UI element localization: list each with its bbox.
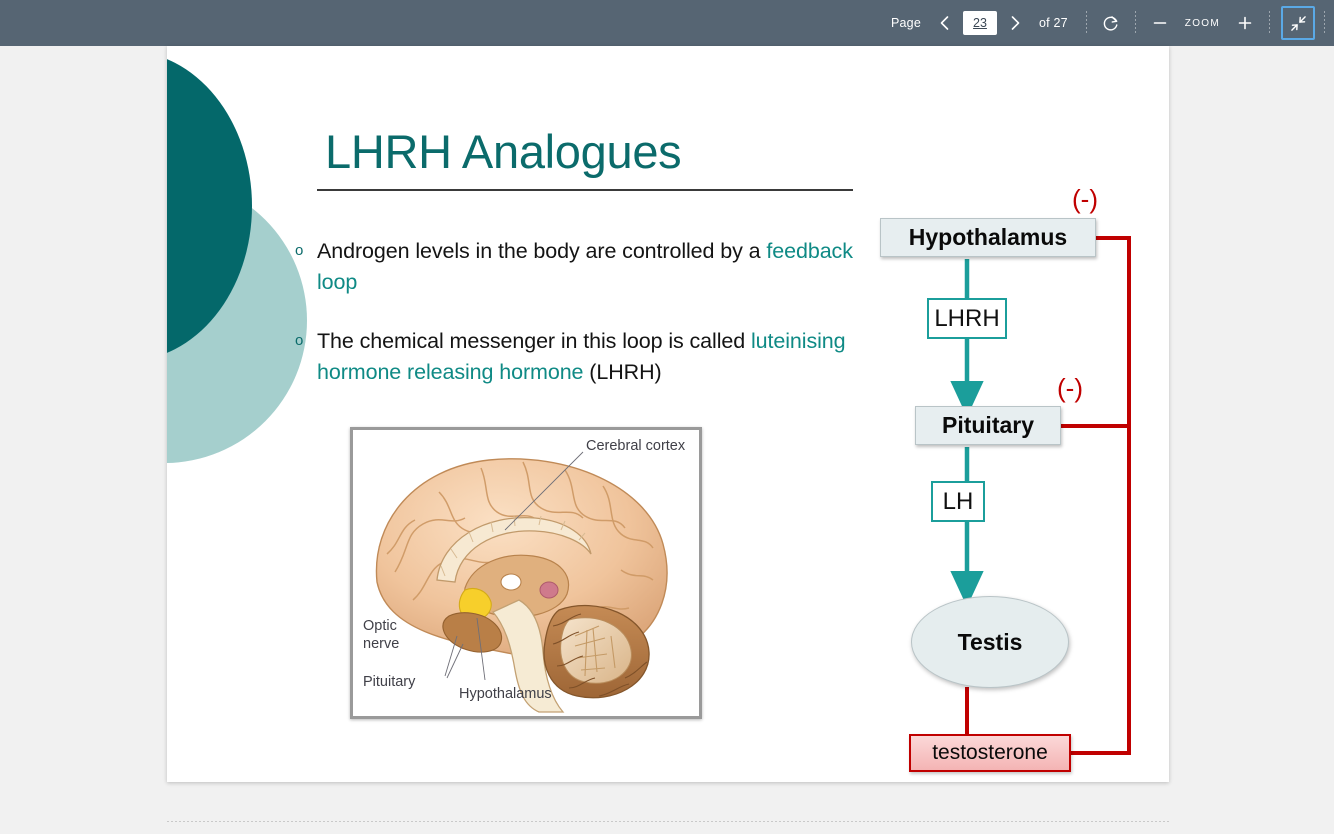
next-page-button[interactable] [1000,8,1030,38]
page-label: Page [882,16,930,30]
bullet-tail-text: (LHRH) [583,360,661,384]
viewer-toolbar: Page 23 of 27 ZOOM [0,0,1334,46]
zoom-label: ZOOM [1175,18,1230,29]
feedback-minus-hypothalamus: (-) [1072,184,1098,215]
bullet-list: o Androgen levels in the body are contro… [291,236,871,416]
zoom-in-button[interactable] [1230,8,1260,38]
label-pituitary: Pituitary [363,674,416,690]
exit-fullscreen-icon [1290,15,1307,32]
label-cerebral-cortex: Cerebral cortex [586,438,686,454]
bullet-plain-text: The chemical messenger in this loop is c… [317,329,751,353]
bullet-marker: o [291,236,317,298]
node-testosterone: testosterone [909,734,1071,772]
chevron-right-icon [1008,15,1022,31]
rotate-button[interactable] [1096,8,1126,38]
feedback-minus-pituitary: (-) [1057,373,1083,404]
toolbar-divider-3 [1269,11,1270,35]
node-testis: Testis [911,596,1069,688]
toolbar-divider [1086,11,1087,35]
bullet-text: Androgen levels in the body are controll… [317,236,871,298]
exit-fullscreen-button[interactable] [1281,6,1315,40]
label-optic-nerve-2: nerve [363,636,399,652]
minus-icon [1152,15,1168,31]
toolbar-divider-2 [1135,11,1136,35]
title-underline [317,189,853,191]
chevron-left-icon [938,15,952,31]
brain-illustration: Cerebral cortex Optic nerve Pituitary Hy… [353,430,699,716]
document-viewport[interactable]: LHRH Analogues o Androgen levels in the … [0,46,1334,834]
page-navigation-group: Page 23 of 27 [882,0,1077,46]
label-optic-nerve-1: Optic [363,618,397,634]
hormone-label-lh: LH [931,481,985,522]
list-item: o Androgen levels in the body are contro… [291,236,871,298]
page-number-input[interactable]: 23 [963,11,997,35]
slide-title: LHRH Analogues [325,124,681,179]
label-hypothalamus: Hypothalamus [459,686,552,702]
bullet-plain-text: Androgen levels in the body are controll… [317,239,766,263]
toolbar-divider-4 [1324,11,1325,35]
previous-page-button[interactable] [930,8,960,38]
hormone-label-lhrh: LHRH [927,298,1007,339]
total-pages-label: of 27 [1030,16,1077,30]
bullet-marker: o [291,326,317,388]
plus-icon [1237,15,1253,31]
zoom-out-button[interactable] [1145,8,1175,38]
node-pituitary: Pituitary [915,406,1061,445]
rotate-icon [1101,14,1120,33]
zoom-group: ZOOM [1145,0,1260,46]
page-separator [167,821,1169,822]
hormone-feedback-diagram: Hypothalamus Pituitary Testis testostero… [867,141,1167,761]
node-hypothalamus: Hypothalamus [880,218,1096,257]
bullet-text: The chemical messenger in this loop is c… [317,326,871,388]
slide-page: LHRH Analogues o Androgen levels in the … [167,46,1169,782]
list-item: o The chemical messenger in this loop is… [291,326,871,388]
brain-anatomy-figure: Cerebral cortex Optic nerve Pituitary Hy… [350,427,702,719]
